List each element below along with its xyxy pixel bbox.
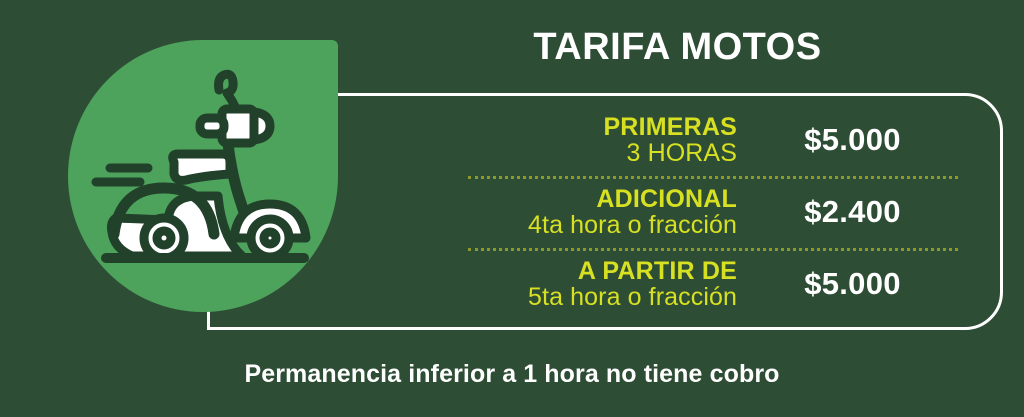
tarifa-motos-banner: TARIFA MOTOS PRIMERAS 3 HORAS $5.000 ADI… [0,0,1024,417]
rate-label-main: PRIMERAS [330,114,737,140]
rate-list: PRIMERAS 3 HORAS $5.000 ADICIONAL 4ta ho… [330,104,950,320]
rate-row: ADICIONAL 4ta hora o fracción $2.400 [330,176,950,248]
rate-row: PRIMERAS 3 HORAS $5.000 [330,104,950,176]
rate-price: $2.400 [755,194,950,230]
rate-price: $5.000 [755,122,950,158]
rate-label-sub: 4ta hora o fracción [330,212,737,238]
page-title: TARIFA MOTOS [350,25,1005,69]
rate-label-main: ADICIONAL [330,186,737,212]
rate-label: ADICIONAL 4ta hora o fracción [330,186,755,238]
rate-row: A PARTIR DE 5ta hora o fracción $5.000 [330,248,950,320]
scooter-icon [88,52,324,298]
footer-note: Permanencia inferior a 1 hora no tiene c… [0,360,1024,389]
rate-label: A PARTIR DE 5ta hora o fracción [330,258,755,310]
rate-label-main: A PARTIR DE [330,258,737,284]
rate-label-sub: 5ta hora o fracción [330,284,737,310]
rate-label: PRIMERAS 3 HORAS [330,114,755,166]
rate-price: $5.000 [755,266,950,302]
rate-label-sub: 3 HORAS [330,140,737,166]
